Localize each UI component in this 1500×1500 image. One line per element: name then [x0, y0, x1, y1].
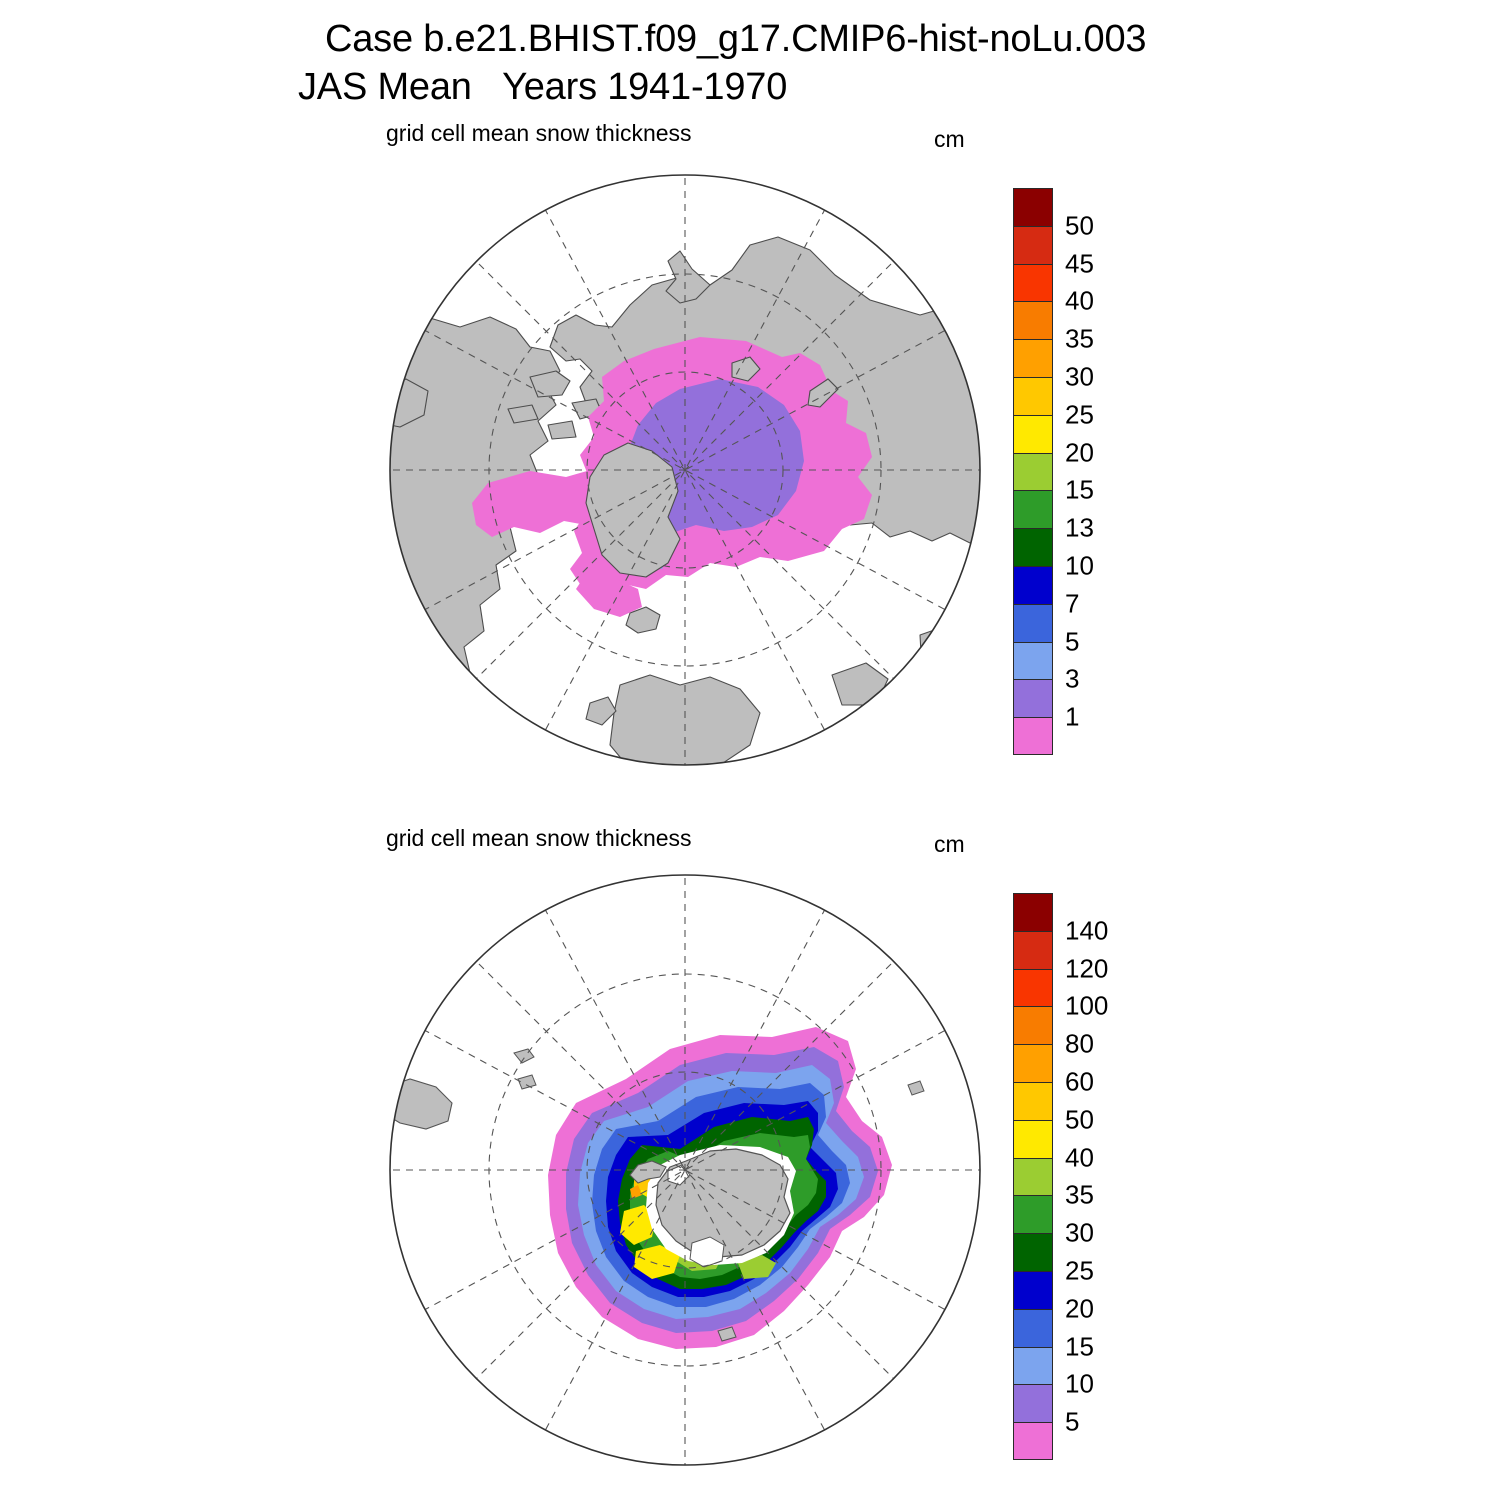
antarctic-colorbar-tick-label: 140: [1065, 915, 1108, 946]
antarctic-colorbar-band-7: [1013, 1158, 1053, 1196]
arctic-colorbar-band-0: [1013, 188, 1053, 226]
arctic-colorbar-band-5: [1013, 377, 1053, 415]
arctic-colorbar-band-3: [1013, 301, 1053, 339]
arctic-colorbar-tick-label: 1: [1065, 702, 1079, 733]
arctic-colorbar-ticks: 504540353025201513107531: [1065, 188, 1145, 755]
antarctic-colorbar-band-2: [1013, 969, 1053, 1007]
arctic-colorbar-tick-label: 50: [1065, 210, 1094, 241]
arctic-colorbar-tick-label: 15: [1065, 475, 1094, 506]
arctic-colorbar-band-11: [1013, 604, 1053, 642]
antarctic-colorbar-band-14: [1013, 1422, 1053, 1460]
archipelago-island-3: [508, 405, 538, 423]
arctic-colorbar-tick-label: 25: [1065, 399, 1094, 430]
antarctic-colorbar-tick-label: 50: [1065, 1104, 1094, 1135]
page-title-line2: JAS Mean Years 1941-1970: [298, 66, 787, 109]
antarctic-colorbar-band-0: [1013, 893, 1053, 931]
antarctic-colorbar[interactable]: 140120100806050403530252015105: [1013, 893, 1053, 1460]
antarctic-colorbar-band-4: [1013, 1044, 1053, 1082]
antarctic-colorbar-band-5: [1013, 1082, 1053, 1120]
antarctic-map[interactable]: [380, 865, 990, 1475]
arctic-colorbar-tick-label: 45: [1065, 248, 1094, 279]
antarctic-colorbar-tick-label: 120: [1065, 953, 1108, 984]
antarctic-colorbar-tick-label: 80: [1065, 1029, 1094, 1060]
arctic-colorbar-tick-label: 13: [1065, 513, 1094, 544]
antarctic-colorbar-tick-label: 100: [1065, 991, 1108, 1022]
antarctic-colorbar-ticks: 140120100806050403530252015105: [1065, 893, 1145, 1460]
arctic-colorbar-band-2: [1013, 264, 1053, 302]
antarctic-colorbar-bands: [1013, 893, 1053, 1460]
antarctic-colorbar-tick-label: 35: [1065, 1180, 1094, 1211]
arctic-plot-area: [380, 165, 990, 775]
arctic-colorbar-band-1: [1013, 226, 1053, 264]
antarctic-colorbar-tick-label: 25: [1065, 1256, 1094, 1287]
arctic-colorbar-tick-label: 3: [1065, 664, 1079, 695]
arctic-colorbar-bands: [1013, 188, 1053, 755]
antarctic-colorbar-band-12: [1013, 1347, 1053, 1385]
arctic-unit-label: cm: [934, 126, 965, 153]
antarctic-colorbar-tick-label: 10: [1065, 1369, 1094, 1400]
antarctic-colorbar-band-8: [1013, 1195, 1053, 1233]
arctic-colorbar-band-12: [1013, 642, 1053, 680]
arctic-colorbar-band-7: [1013, 453, 1053, 491]
arctic-colorbar-band-13: [1013, 679, 1053, 717]
arctic-colorbar-tick-label: 30: [1065, 362, 1094, 393]
arctic-colorbar-tick-label: 20: [1065, 437, 1094, 468]
antarctic-colorbar-tick-label: 5: [1065, 1407, 1079, 1438]
arctic-colorbar-band-9: [1013, 528, 1053, 566]
antarctic-colorbar-band-1: [1013, 931, 1053, 969]
arctic-colorbar-band-14: [1013, 717, 1053, 755]
antarctic-colorbar-band-11: [1013, 1309, 1053, 1347]
arctic-colorbar-tick-label: 5: [1065, 626, 1079, 657]
arctic-colorbar-tick-label: 10: [1065, 551, 1094, 582]
antarctic-colorbar-band-9: [1013, 1233, 1053, 1271]
arctic-map[interactable]: [380, 165, 990, 775]
antarctic-plot-area: [380, 865, 990, 1475]
antarctic-colorbar-band-13: [1013, 1384, 1053, 1422]
antarctic-colorbar-tick-label: 60: [1065, 1067, 1094, 1098]
antarctic-unit-label: cm: [934, 831, 965, 858]
page-title-line1: Case b.e21.BHIST.f09_g17.CMIP6-hist-noLu…: [325, 18, 1146, 61]
arctic-colorbar-tick-label: 40: [1065, 286, 1094, 317]
antarctic-colorbar-tick-label: 30: [1065, 1218, 1094, 1249]
arctic-field-label: grid cell mean snow thickness: [386, 120, 692, 147]
arctic-colorbar-band-8: [1013, 490, 1053, 528]
antarctic-colorbar-band-3: [1013, 1006, 1053, 1044]
antarctic-colorbar-tick-label: 20: [1065, 1293, 1094, 1324]
arctic-colorbar-band-4: [1013, 339, 1053, 377]
arctic-colorbar-tick-label: 7: [1065, 588, 1079, 619]
antarctic-colorbar-band-6: [1013, 1120, 1053, 1158]
antarctic-map-svg: [380, 865, 990, 1475]
antarctic-colorbar-tick-label: 15: [1065, 1331, 1094, 1362]
arctic-map-svg: [380, 165, 990, 775]
antarctic-colorbar-tick-label: 40: [1065, 1142, 1094, 1173]
arctic-colorbar[interactable]: 504540353025201513107531: [1013, 188, 1053, 755]
antarctic-colorbar-band-10: [1013, 1271, 1053, 1309]
antarctic-field-label: grid cell mean snow thickness: [386, 825, 692, 852]
arctic-colorbar-tick-label: 35: [1065, 324, 1094, 355]
arctic-colorbar-band-6: [1013, 415, 1053, 453]
northeast-landmass: [920, 621, 990, 693]
arctic-colorbar-band-10: [1013, 566, 1053, 604]
